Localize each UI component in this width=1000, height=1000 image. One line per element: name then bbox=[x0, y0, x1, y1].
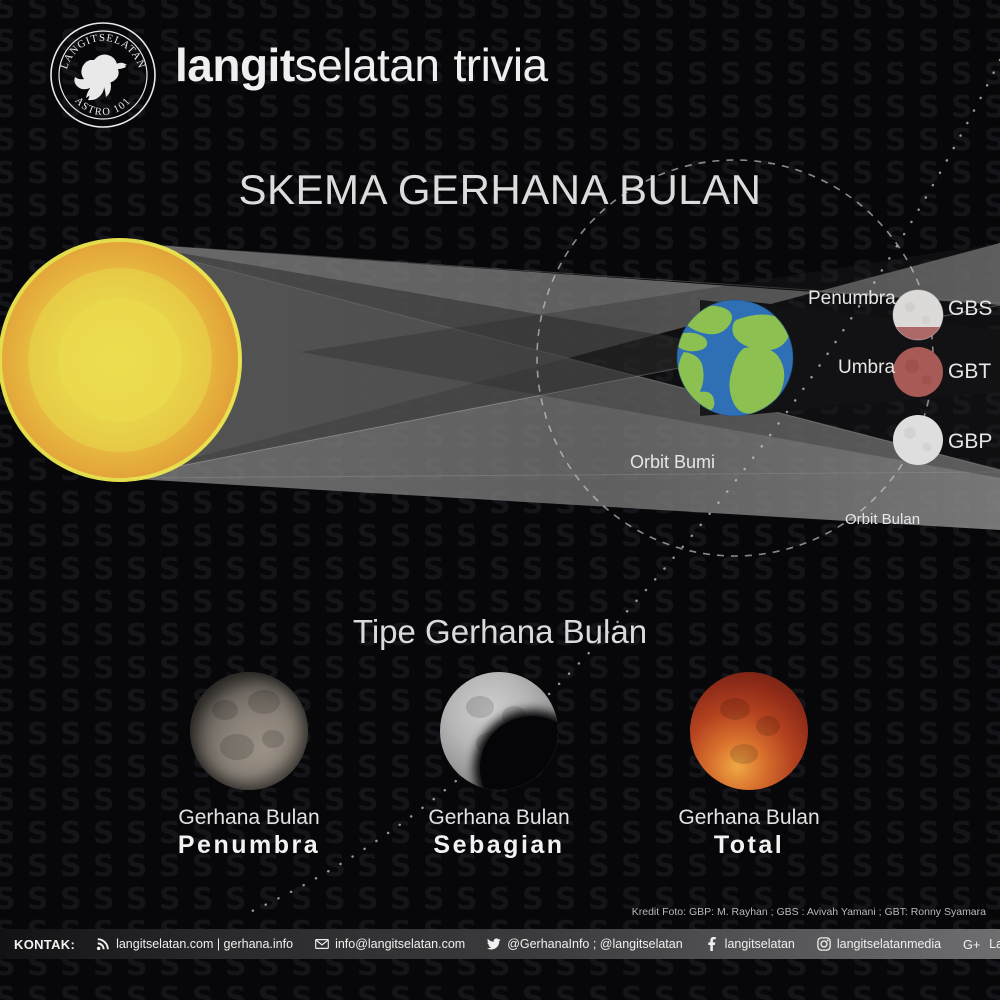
label-umbra: Umbra bbox=[838, 357, 895, 379]
type-label-line1: Gerhana Bulan bbox=[364, 806, 634, 831]
type-label-line2: Sebagian bbox=[364, 831, 634, 861]
page-title: SKEMA GERHANA BULAN bbox=[0, 166, 1000, 214]
brand-wordmark: langitselatantrivia bbox=[175, 38, 548, 92]
kontak-label: KONTAK: bbox=[0, 937, 85, 952]
logo-bottom-text: ASTRO 101 bbox=[72, 95, 133, 118]
moon-photo-total bbox=[690, 672, 808, 790]
type-label-line2: Total bbox=[614, 831, 884, 861]
label-penumbra: Penumbra bbox=[808, 288, 896, 310]
footer-item-googleplus[interactable]: G+LangitselatanMedia bbox=[952, 937, 1000, 951]
footer-item-label: @GerhanaInfo ; @langitselatan bbox=[507, 937, 682, 951]
eclipse-type-total: Gerhana Bulan Total bbox=[614, 672, 884, 860]
instagram-icon bbox=[817, 937, 831, 951]
envelope-icon bbox=[315, 937, 329, 951]
footer-item-label: langitselatan bbox=[725, 937, 795, 951]
footer-item-instagram[interactable]: langitselatanmedia bbox=[806, 937, 952, 951]
moon-photo-penumbral bbox=[190, 672, 308, 790]
eclipse-type-gallery: Gerhana Bulan Penumbra Gerhana Bulan Seb… bbox=[0, 672, 1000, 872]
footer-item-facebook[interactable]: langitselatan bbox=[694, 937, 806, 951]
brand-suffix: trivia bbox=[454, 39, 548, 91]
langitselatan-logo: LANGITSELATAN ASTRO 101 bbox=[48, 20, 158, 130]
type-label-line1: Gerhana Bulan bbox=[114, 806, 384, 831]
horseman-icon bbox=[74, 55, 127, 101]
sun bbox=[0, 238, 242, 482]
label-orbit-bumi: Orbit Bumi bbox=[630, 452, 715, 473]
photo-credit: Kredit Foto: GBP: M. Rayhan ; GBS : Aviv… bbox=[632, 906, 986, 918]
footer-item-label: langitselatan.com | gerhana.info bbox=[116, 937, 293, 951]
brand-bold: langit bbox=[175, 39, 295, 91]
footer-item-label: LangitselatanMedia bbox=[989, 937, 1000, 951]
label-gbt: GBT bbox=[948, 360, 991, 384]
brand-light: selatan bbox=[295, 39, 440, 91]
footer-item-rss[interactable]: langitselatan.com | gerhana.info bbox=[85, 937, 304, 951]
footer-item-label: langitselatanmedia bbox=[837, 937, 941, 951]
rss-icon bbox=[96, 937, 110, 951]
footer-item-envelope[interactable]: info@langitselatan.com bbox=[304, 937, 476, 951]
label-gbp: GBP bbox=[948, 430, 992, 454]
infographic-poster: SSSSSSSSSSSSSSSSSSSSSSSSSSSSSSSSSSSSSSSS… bbox=[0, 0, 1000, 1000]
svg-text:G+: G+ bbox=[963, 937, 980, 952]
label-orbit-bulan: Orbit Bulan bbox=[845, 511, 920, 528]
googleplus-icon: G+ bbox=[963, 937, 983, 951]
moon-marker-gbp bbox=[893, 415, 943, 465]
footer-item-twitter[interactable]: @GerhanaInfo ; @langitselatan bbox=[476, 937, 693, 951]
eclipse-type-partial: Gerhana Bulan Sebagian bbox=[364, 672, 634, 860]
type-label-line2: Penumbra bbox=[114, 831, 384, 861]
section-title: Tipe Gerhana Bulan bbox=[0, 613, 1000, 651]
footer-item-label: info@langitselatan.com bbox=[335, 937, 465, 951]
eclipse-type-penumbra: Gerhana Bulan Penumbra bbox=[114, 672, 384, 860]
twitter-icon bbox=[487, 937, 501, 951]
contact-footer: KONTAK: langitselatan.com | gerhana.info… bbox=[0, 929, 1000, 959]
moon-photo-partial bbox=[440, 672, 558, 790]
type-label-line1: Gerhana Bulan bbox=[614, 806, 884, 831]
umbra-bite bbox=[480, 716, 558, 790]
facebook-icon bbox=[705, 937, 719, 951]
poster-header: LANGITSELATAN ASTRO 101 langitselatantri… bbox=[0, 0, 1000, 130]
moon-marker-gbt bbox=[893, 347, 943, 397]
label-gbs: GBS bbox=[948, 297, 992, 321]
